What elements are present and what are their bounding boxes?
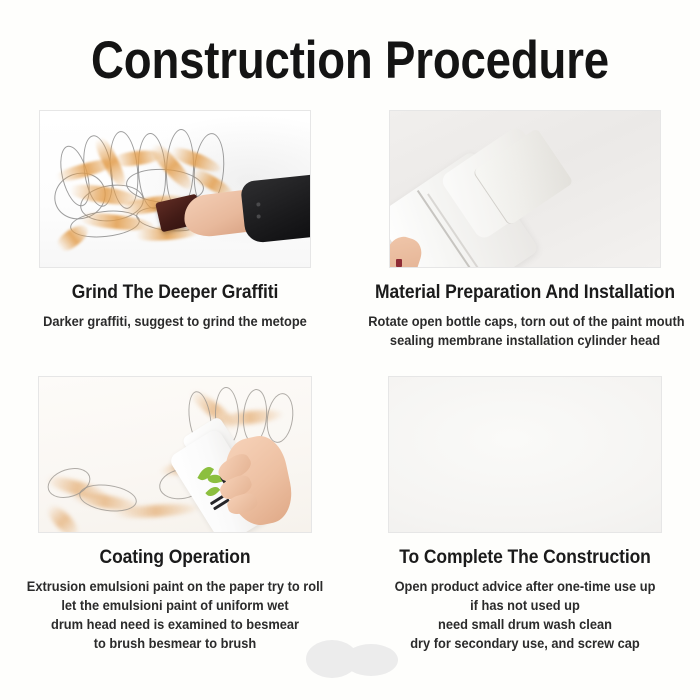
step-4-heading: To Complete The Construction xyxy=(373,547,677,569)
procedure-row-2: Coating Operation Extrusion emulsioni pa… xyxy=(0,376,700,653)
step-card-1: Grind The Deeper Graffiti Darker graffit… xyxy=(0,110,350,350)
step-1-body: Darker graffiti, suggest to grind the me… xyxy=(18,304,332,331)
step-3-body-line-2: let the emulsioni paint of uniform wet xyxy=(18,596,332,615)
step-card-4: To Complete The Construction Open produc… xyxy=(350,376,700,653)
step-3-body-line-3: drum head need is examined to besmear xyxy=(18,615,332,634)
step-2-body-line-1: Rotate open bottle caps, torn out of the… xyxy=(368,312,682,331)
step-4-caption: To Complete The Construction Open produc… xyxy=(360,533,690,653)
step-4-body-line-4: dry for secondary use, and screw cap xyxy=(368,634,682,653)
step-3-caption: Coating Operation Extrusion emulsioni pa… xyxy=(10,533,340,653)
procedure-row-1: Grind The Deeper Graffiti Darker graffit… xyxy=(0,110,700,350)
graffiti-orange-wisp xyxy=(43,501,82,533)
step-4-body-line-1: Open product advice after one-time use u… xyxy=(368,577,682,596)
procedure-grid: Grind The Deeper Graffiti Darker graffit… xyxy=(0,110,700,653)
step-2-photo xyxy=(389,110,661,268)
step-3-heading: Coating Operation xyxy=(23,547,327,569)
step-1-body-line-1: Darker graffiti, suggest to grind the me… xyxy=(18,312,332,331)
graffiti-gray-wisp xyxy=(264,391,297,444)
step-1-photo xyxy=(39,110,311,268)
step-3-body-line-4: to brush besmear to brush xyxy=(18,634,332,653)
dark-sleeve xyxy=(240,174,311,244)
step-3-photo xyxy=(38,376,312,533)
label-mark xyxy=(396,259,402,267)
step-1-caption: Grind The Deeper Graffiti Darker graffit… xyxy=(10,268,340,331)
step-3-body-line-1: Extrusion emulsioni paint on the paper t… xyxy=(18,577,332,596)
step-card-2: Material Preparation And Installation Ro… xyxy=(350,110,700,350)
graffiti-gray-wisp xyxy=(241,388,269,444)
cuff-button xyxy=(256,202,260,206)
step-3-body: Extrusion emulsioni paint on the paper t… xyxy=(18,569,332,653)
page-title: Construction Procedure xyxy=(49,30,651,92)
step-4-body-line-3: need small drum wash clean xyxy=(368,615,682,634)
step-4-body: Open product advice after one-time use u… xyxy=(368,569,682,653)
step-2-caption: Material Preparation And Installation Ro… xyxy=(360,268,690,350)
step-2-body-line-2: sealing membrane installation cylinder h… xyxy=(368,331,682,350)
step-card-3: Coating Operation Extrusion emulsioni pa… xyxy=(0,376,350,653)
step-4-photo xyxy=(388,376,662,533)
step-2-body: Rotate open bottle caps, torn out of the… xyxy=(368,304,682,350)
step-1-heading: Grind The Deeper Graffiti xyxy=(23,282,327,304)
step-4-body-line-2: if has not used up xyxy=(368,596,682,615)
cuff-button xyxy=(256,214,260,218)
step-2-heading: Material Preparation And Installation xyxy=(373,282,677,304)
